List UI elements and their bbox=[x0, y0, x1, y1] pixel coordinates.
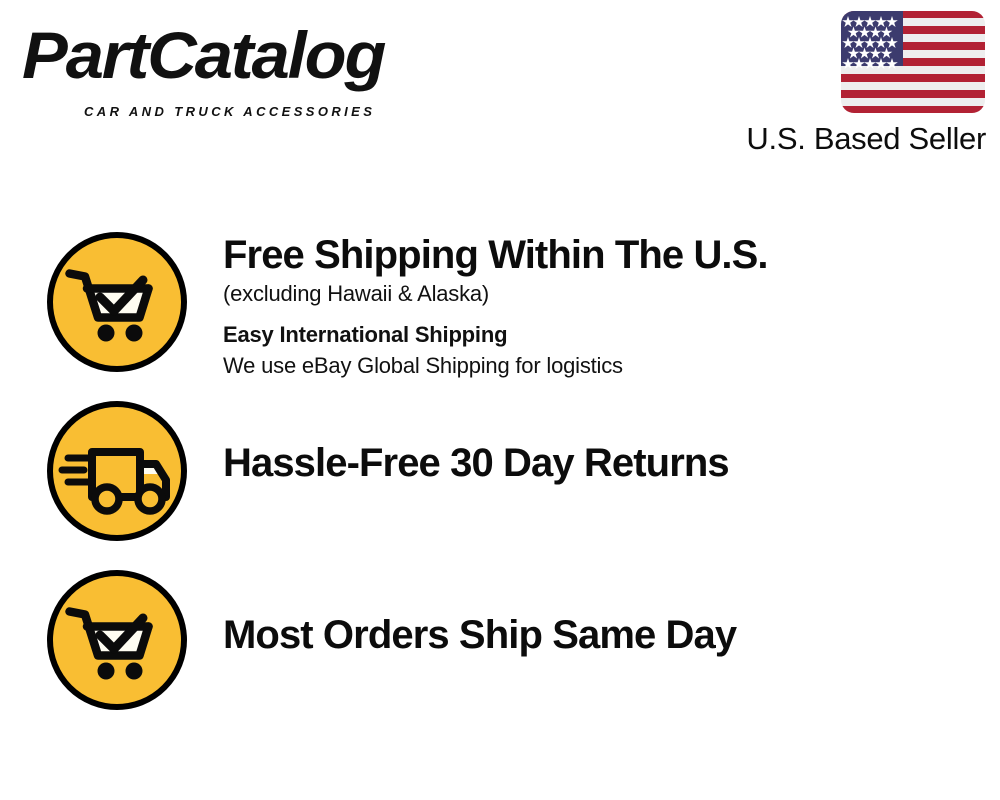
brand-logo: PartCatalog CAR AND TRUCK ACCESSORIES bbox=[22, 18, 502, 118]
feature-text-block: Most Orders Ship Same Day bbox=[223, 612, 983, 658]
feature-title: Hassle-Free 30 Day Returns bbox=[223, 440, 983, 486]
list-item: Most Orders Ship Same Day bbox=[0, 570, 1000, 742]
list-item: Free Shipping Within The U.S. (excluding… bbox=[0, 226, 1000, 398]
delivery-truck-icon bbox=[44, 398, 190, 544]
feature-title: Most Orders Ship Same Day bbox=[223, 612, 983, 658]
list-item: Hassle-Free 30 Day Returns bbox=[0, 398, 1000, 570]
feature-text-block: Free Shipping Within The U.S. (excluding… bbox=[223, 232, 983, 381]
brand-name: PartCatalog bbox=[22, 18, 521, 92]
banner-header: PartCatalog CAR AND TRUCK ACCESSORIES bbox=[0, 0, 1000, 170]
promo-banner: PartCatalog CAR AND TRUCK ACCESSORIES bbox=[0, 0, 1000, 800]
cart-check-icon bbox=[44, 567, 190, 713]
feature-text-block: Hassle-Free 30 Day Returns bbox=[223, 440, 983, 486]
brand-tagline: CAR AND TRUCK ACCESSORIES bbox=[84, 104, 375, 120]
feature-list: Free Shipping Within The U.S. (excluding… bbox=[0, 226, 1000, 742]
feature-title: Free Shipping Within The U.S. bbox=[223, 232, 983, 278]
feature-subtitle: (excluding Hawaii & Alaska) bbox=[223, 279, 983, 309]
cart-check-icon bbox=[44, 229, 190, 375]
feature-subtitle-bold: Easy International Shipping bbox=[223, 320, 983, 350]
feature-subtitle-detail: We use eBay Global Shipping for logistic… bbox=[223, 351, 983, 381]
us-based-seller-label: U.S. Based Seller bbox=[716, 120, 986, 158]
us-flag-icon bbox=[840, 10, 986, 114]
us-based-seller-badge: U.S. Based Seller bbox=[716, 10, 986, 158]
